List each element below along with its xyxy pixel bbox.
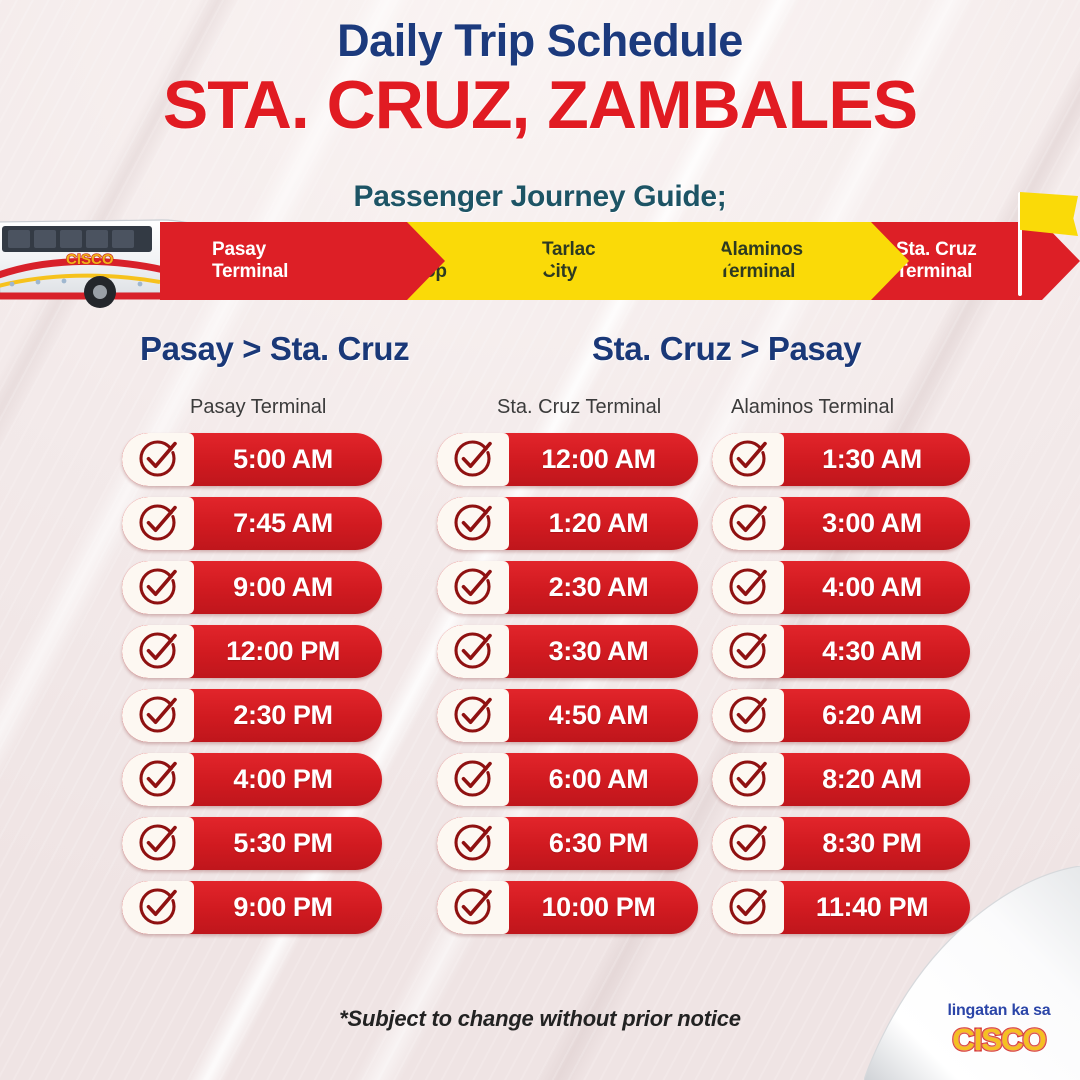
check-badge xyxy=(122,625,194,678)
check-circle-icon xyxy=(453,440,493,480)
schedule-time-pill[interactable]: 4:50 AM xyxy=(437,689,698,742)
check-circle-icon xyxy=(138,632,178,672)
check-badge xyxy=(712,881,784,934)
section-heading-outbound: Pasay > Sta. Cruz xyxy=(140,330,409,368)
check-circle-icon xyxy=(453,824,493,864)
schedule-time-pill[interactable]: 6:30 PM xyxy=(437,817,698,870)
check-circle-icon xyxy=(728,568,768,608)
departure-time: 8:30 PM xyxy=(784,828,970,859)
page-title: Daily Trip Schedule STA. CRUZ, ZAMBALES xyxy=(0,16,1080,141)
check-circle-icon xyxy=(138,504,178,544)
check-badge xyxy=(437,497,509,550)
schedule-time-pill[interactable]: 12:00 AM xyxy=(437,433,698,486)
check-badge xyxy=(122,881,194,934)
check-circle-icon xyxy=(728,504,768,544)
check-badge xyxy=(437,433,509,486)
check-badge xyxy=(122,689,194,742)
cisco-logo: lingatan ka sa CISCO xyxy=(934,1002,1064,1058)
title-main: Daily Trip Schedule xyxy=(0,16,1080,66)
schedule-column-alaminos: 1:30 AM3:00 AM4:00 AM4:30 AM6:20 AM8:20 … xyxy=(712,433,970,934)
schedule-time-pill[interactable]: 4:00 AM xyxy=(712,561,970,614)
departure-time: 3:00 AM xyxy=(784,508,970,539)
departure-time: 6:00 AM xyxy=(509,764,698,795)
schedule-time-pill[interactable]: 4:00 PM xyxy=(122,753,382,806)
journey-stop-label: Pasay Terminal xyxy=(212,239,288,284)
departure-time: 6:20 AM xyxy=(784,700,970,731)
check-circle-icon xyxy=(453,888,493,928)
schedule-time-pill[interactable]: 12:00 PM xyxy=(122,625,382,678)
schedule-time-pill[interactable]: 9:00 AM xyxy=(122,561,382,614)
check-circle-icon xyxy=(728,760,768,800)
schedule-time-pill[interactable]: 3:00 AM xyxy=(712,497,970,550)
check-circle-icon xyxy=(453,568,493,608)
column-header-sta-cruz-terminal: Sta. Cruz Terminal xyxy=(497,396,661,419)
departure-time: 4:30 AM xyxy=(784,636,970,667)
check-circle-icon xyxy=(453,760,493,800)
departure-time: 4:50 AM xyxy=(509,700,698,731)
check-circle-icon xyxy=(138,440,178,480)
schedule-time-pill[interactable]: 10:00 PM xyxy=(437,881,698,934)
check-badge xyxy=(712,433,784,486)
check-circle-icon xyxy=(728,824,768,864)
check-badge xyxy=(122,817,194,870)
check-circle-icon xyxy=(453,696,493,736)
column-header-alaminos-terminal: Alaminos Terminal xyxy=(731,396,894,419)
departure-time: 9:00 AM xyxy=(194,572,382,603)
check-badge xyxy=(122,497,194,550)
check-circle-icon xyxy=(728,696,768,736)
schedule-column-sta-cruz: 12:00 AM1:20 AM2:30 AM3:30 AM4:50 AM6:00… xyxy=(437,433,698,934)
departure-time: 5:00 AM xyxy=(194,444,382,475)
departure-time: 4:00 PM xyxy=(194,764,382,795)
schedule-time-pill[interactable]: 2:30 AM xyxy=(437,561,698,614)
schedule-time-pill[interactable]: 8:30 PM xyxy=(712,817,970,870)
schedule-time-pill[interactable]: 1:20 AM xyxy=(437,497,698,550)
check-badge xyxy=(437,881,509,934)
check-badge xyxy=(437,817,509,870)
schedule-time-pill[interactable]: 1:30 AM xyxy=(712,433,970,486)
svg-text:CISCO: CISCO xyxy=(66,251,114,268)
check-badge xyxy=(712,689,784,742)
departure-time: 12:00 PM xyxy=(194,636,382,667)
departure-time: 1:20 AM xyxy=(509,508,698,539)
check-badge xyxy=(437,561,509,614)
check-circle-icon xyxy=(138,824,178,864)
departure-time: 5:30 PM xyxy=(194,828,382,859)
check-badge xyxy=(712,817,784,870)
journey-stop-1: Pasay Terminal xyxy=(160,222,445,300)
departure-time: 10:00 PM xyxy=(509,892,698,923)
check-circle-icon xyxy=(453,632,493,672)
departure-time: 7:45 AM xyxy=(194,508,382,539)
check-circle-icon xyxy=(138,760,178,800)
schedule-time-pill[interactable]: 4:30 AM xyxy=(712,625,970,678)
schedule-time-pill[interactable]: 6:00 AM xyxy=(437,753,698,806)
departure-time: 8:20 AM xyxy=(784,764,970,795)
check-badge xyxy=(122,753,194,806)
check-circle-icon xyxy=(138,696,178,736)
check-badge xyxy=(437,625,509,678)
disclaimer-note: *Subject to change without prior notice xyxy=(0,1006,1080,1032)
check-badge xyxy=(437,753,509,806)
departure-time: 4:00 AM xyxy=(784,572,970,603)
schedule-time-pill[interactable]: 7:45 AM xyxy=(122,497,382,550)
departure-time: 11:40 PM xyxy=(784,892,970,923)
check-circle-icon xyxy=(728,440,768,480)
check-circle-icon xyxy=(138,568,178,608)
column-header-pasay-terminal: Pasay Terminal xyxy=(190,396,326,419)
journey-guide-label: Passenger Journey Guide; xyxy=(0,180,1080,214)
check-circle-icon xyxy=(728,888,768,928)
departure-time: 2:30 AM xyxy=(509,572,698,603)
check-badge xyxy=(122,561,194,614)
schedule-time-pill[interactable]: 6:20 AM xyxy=(712,689,970,742)
check-badge xyxy=(437,689,509,742)
logo-tagline: lingatan ka sa xyxy=(934,1002,1064,1020)
check-circle-icon xyxy=(728,632,768,672)
departure-time: 3:30 AM xyxy=(509,636,698,667)
schedule-time-pill[interactable]: 5:30 PM xyxy=(122,817,382,870)
departure-time: 6:30 PM xyxy=(509,828,698,859)
check-badge xyxy=(712,753,784,806)
schedule-time-pill[interactable]: 11:40 PM xyxy=(712,881,970,934)
schedule-time-pill[interactable]: 2:30 PM xyxy=(122,689,382,742)
logo-wordmark: CISCO xyxy=(934,1022,1064,1058)
journey-guide-strip: Pasay TerminalDau Bus StopTarlac CityAla… xyxy=(0,222,1080,300)
check-circle-icon xyxy=(138,888,178,928)
schedule-time-pill[interactable]: 9:00 PM xyxy=(122,881,382,934)
poster-canvas: Daily Trip Schedule STA. CRUZ, ZAMBALES … xyxy=(0,0,1080,1080)
departure-time: 9:00 PM xyxy=(194,892,382,923)
check-circle-icon xyxy=(453,504,493,544)
schedule-column-pasay: 5:00 AM7:45 AM9:00 AM12:00 PM2:30 PM4:00… xyxy=(122,433,382,934)
departure-time: 1:30 AM xyxy=(784,444,970,475)
section-heading-inbound: Sta. Cruz > Pasay xyxy=(592,330,861,368)
schedule-time-pill[interactable]: 3:30 AM xyxy=(437,625,698,678)
schedule-time-pill[interactable]: 8:20 AM xyxy=(712,753,970,806)
check-badge xyxy=(712,497,784,550)
check-badge xyxy=(712,625,784,678)
departure-time: 12:00 AM xyxy=(509,444,698,475)
departure-time: 2:30 PM xyxy=(194,700,382,731)
schedule-time-pill[interactable]: 5:00 AM xyxy=(122,433,382,486)
title-destination: STA. CRUZ, ZAMBALES xyxy=(0,70,1080,141)
check-badge xyxy=(712,561,784,614)
check-badge xyxy=(122,433,194,486)
